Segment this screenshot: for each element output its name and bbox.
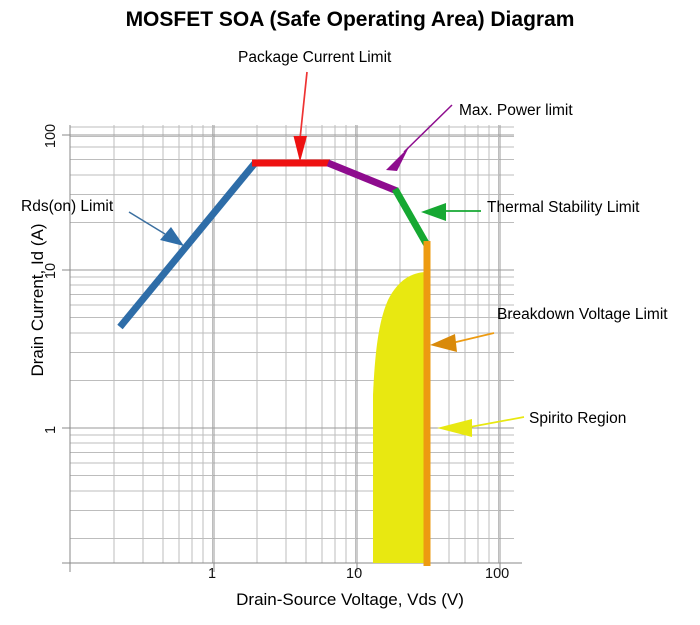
x-axis-label: Drain-Source Voltage, Vds (V): [0, 590, 700, 610]
arrow-max-power-limit: [386, 105, 452, 171]
curve-rds-on-limit: [120, 163, 255, 327]
arrow-rds-on-limit: [129, 212, 184, 246]
arrow-thermal-stability-limit: [421, 203, 481, 221]
arrow-package-current-limit: [294, 72, 308, 162]
curve-max-power-limit: [328, 163, 397, 191]
x-tick-100: 100: [485, 566, 509, 582]
spirito-region-area: [373, 272, 427, 563]
axis-ticks: [62, 135, 500, 572]
annotation-breakdown-voltage-limit: Breakdown Voltage Limit: [497, 307, 668, 323]
annotation-package-current-limit: Package Current Limit: [238, 50, 391, 66]
y-axis-label: Drain Current, Id (A): [28, 170, 48, 430]
x-tick-1: 1: [208, 566, 216, 582]
annotation-spirito-region: Spirito Region: [529, 411, 626, 427]
annotation-max-power-limit: Max. Power limit: [459, 103, 573, 119]
arrow-spirito-region: [437, 417, 524, 437]
annotation-thermal-stability-limit: Thermal Stability Limit: [487, 200, 639, 216]
soa-diagram-figure: MOSFET SOA (Safe Operating Area) Diagram: [0, 0, 700, 625]
x-tick-10: 10: [346, 566, 362, 582]
y-tick-100: 100: [43, 118, 59, 154]
arrow-breakdown-voltage-limit: [430, 333, 494, 352]
